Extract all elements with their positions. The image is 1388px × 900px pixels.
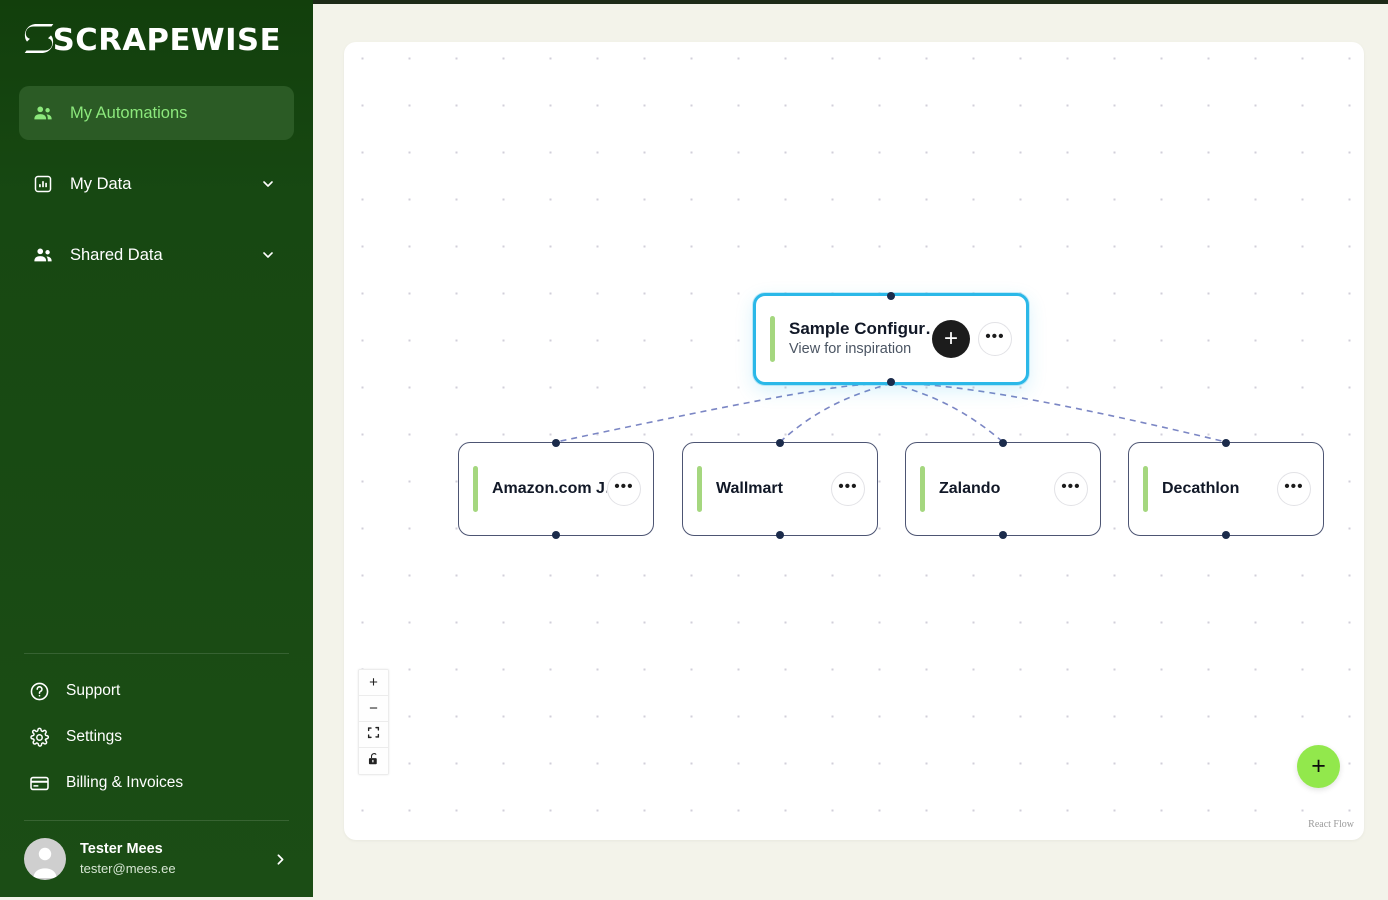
sidebar-item-my-data[interactable]: My Data: [19, 157, 294, 211]
credit-card-icon: [24, 773, 54, 794]
flow-controls: + −: [358, 669, 389, 775]
sidebar-item-billing[interactable]: Billing & Invoices: [24, 760, 289, 806]
node-more-button[interactable]: •••: [831, 472, 865, 506]
node-more-button[interactable]: •••: [978, 322, 1012, 356]
node-handle-bottom[interactable]: [999, 531, 1007, 539]
brand-logo[interactable]: SCRAPEWISE: [0, 0, 313, 82]
sidebar-item-label: Support: [66, 682, 120, 700]
node-handle-bottom[interactable]: [887, 378, 895, 386]
minus-icon: −: [369, 700, 378, 717]
help-circle-icon: [24, 681, 54, 702]
avatar: [24, 838, 66, 880]
user-name: Tester Mees: [80, 840, 176, 860]
chevron-down-icon[interactable]: [260, 247, 276, 263]
brand-name: SCRAPEWISE: [53, 26, 281, 56]
sidebar-item-label: My Automations: [70, 104, 276, 123]
zoom-in-button[interactable]: +: [359, 670, 388, 696]
secondary-nav: Support Settings: [0, 654, 313, 806]
node-more-button[interactable]: •••: [1277, 472, 1311, 506]
node-more-button[interactable]: •••: [1054, 472, 1088, 506]
sidebar-item-label: Billing & Invoices: [66, 774, 183, 792]
node-accent-bar: [920, 466, 925, 512]
create-automation-fab[interactable]: +: [1297, 745, 1340, 788]
toggle-interactivity-button[interactable]: [359, 748, 388, 774]
node-title: Decathlon: [1162, 479, 1277, 499]
primary-nav: My Automations My Data: [0, 82, 313, 299]
node-handle-top[interactable]: [999, 439, 1007, 447]
node-accent-bar: [770, 316, 775, 362]
scrapewise-s-mark-icon: [24, 23, 54, 59]
node-handle-top[interactable]: [1222, 439, 1230, 447]
fit-view-icon: [367, 726, 380, 743]
flow-node-root[interactable]: Sample Configur… View for inspiration + …: [753, 293, 1029, 385]
node-handle-top[interactable]: [776, 439, 784, 447]
sidebar: SCRAPEWISE My Automations: [0, 0, 313, 897]
flow-node-child[interactable]: Zalando •••: [905, 442, 1101, 536]
people-icon: [26, 244, 60, 266]
add-node-button[interactable]: +: [932, 320, 970, 358]
node-handle-top[interactable]: [887, 292, 895, 300]
node-handle-bottom[interactable]: [776, 531, 784, 539]
node-accent-bar: [473, 466, 478, 512]
node-title: Amazon.com J…: [492, 479, 607, 499]
lock-icon: [367, 752, 380, 770]
flow-node-child[interactable]: Decathlon •••: [1128, 442, 1324, 536]
fit-view-button[interactable]: [359, 722, 388, 748]
node-title: Zalando: [939, 479, 1054, 499]
node-handle-bottom[interactable]: [1222, 531, 1230, 539]
node-accent-bar: [697, 466, 702, 512]
sidebar-item-support[interactable]: Support: [24, 668, 289, 714]
node-title: Sample Configur…: [789, 318, 932, 339]
node-subtitle: View for inspiration: [789, 340, 932, 360]
sidebar-spacer: [0, 299, 313, 653]
sidebar-item-my-automations[interactable]: My Automations: [19, 86, 294, 140]
zoom-out-button[interactable]: −: [359, 696, 388, 722]
node-accent-bar: [1143, 466, 1148, 512]
chevron-right-icon[interactable]: [272, 851, 289, 868]
user-account-row[interactable]: Tester Mees tester@mees.ee: [0, 821, 313, 897]
node-handle-top[interactable]: [552, 439, 560, 447]
people-icon: [26, 102, 60, 124]
flow-canvas[interactable]: Sample Configur… View for inspiration + …: [344, 42, 1364, 840]
flow-node-child[interactable]: Wallmart •••: [682, 442, 878, 536]
person-avatar-icon: [24, 838, 66, 880]
sidebar-item-label: My Data: [70, 175, 260, 194]
plus-icon: +: [369, 674, 378, 691]
flow-node-child[interactable]: Amazon.com J… •••: [458, 442, 654, 536]
node-more-button[interactable]: •••: [607, 472, 641, 506]
node-title: Wallmart: [716, 479, 831, 499]
sidebar-item-label: Shared Data: [70, 246, 260, 265]
sidebar-item-label: Settings: [66, 728, 122, 746]
sidebar-item-shared-data[interactable]: Shared Data: [19, 228, 294, 282]
sidebar-item-settings[interactable]: Settings: [24, 714, 289, 760]
gear-icon: [24, 727, 54, 748]
react-flow-attribution[interactable]: React Flow: [1308, 819, 1354, 830]
user-email: tester@mees.ee: [80, 860, 176, 878]
chart-square-icon: [26, 174, 60, 194]
node-handle-bottom[interactable]: [552, 531, 560, 539]
flow-nodes: Sample Configur… View for inspiration + …: [344, 42, 1364, 840]
app-root: SCRAPEWISE My Automations: [0, 0, 1388, 900]
chevron-down-icon[interactable]: [260, 176, 276, 192]
